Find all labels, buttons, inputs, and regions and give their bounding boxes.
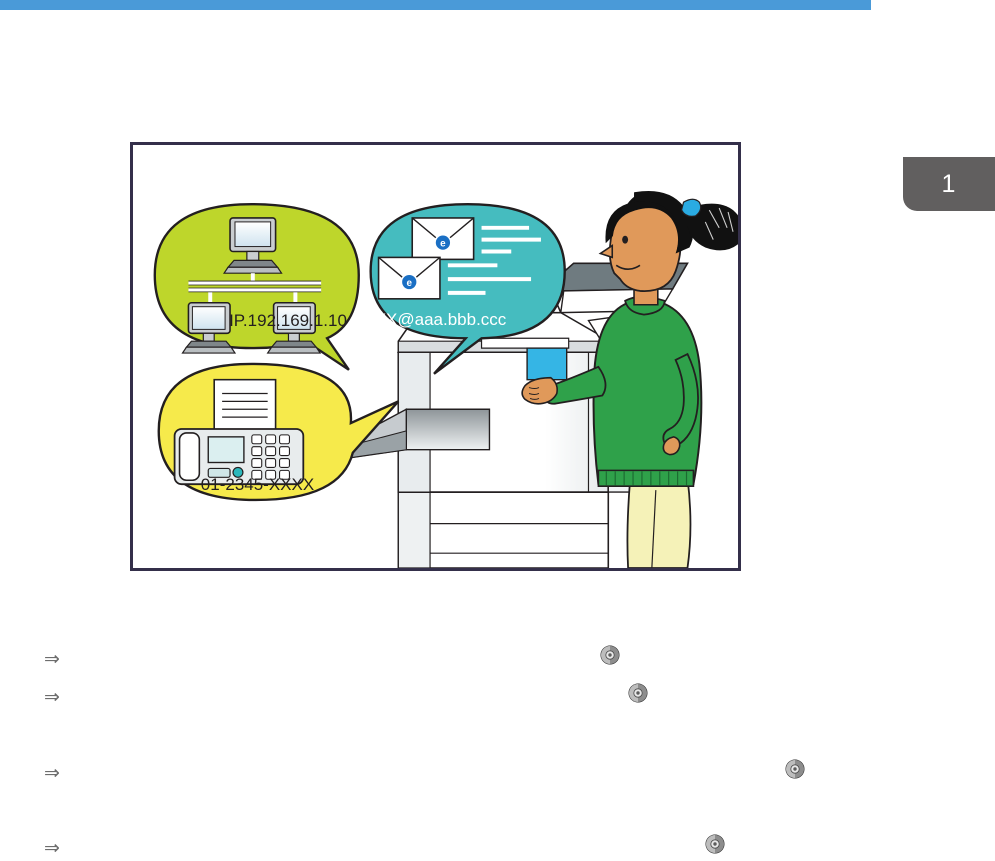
reference-arrow-icon: ⇒ — [44, 684, 60, 710]
printer-scenario-illustration: e e — [133, 145, 738, 568]
cd-disc-icon — [785, 759, 805, 779]
cd-disc-icon — [600, 645, 620, 665]
top-rule — [0, 0, 871, 10]
cd-disc-icon — [705, 834, 725, 854]
fax-bubble-label: 01-2345-XXXX — [165, 475, 350, 495]
svg-text:e: e — [440, 239, 446, 250]
hair-tie — [682, 199, 701, 216]
illustration-frame: e e — [130, 142, 741, 571]
reference-arrow-icon: ⇒ — [44, 646, 60, 672]
reference-arrow-icon: ⇒ — [44, 760, 60, 786]
reference-arrow-icon: ⇒ — [44, 835, 60, 861]
email-bubble-label: XX@aaa.bbb.ccc — [348, 310, 533, 330]
svg-text:e: e — [407, 278, 413, 289]
cd-disc-icon — [628, 683, 648, 703]
network-bubble — [155, 204, 359, 370]
document-sheet — [527, 348, 567, 380]
chapter-tab: 1 — [903, 157, 995, 211]
